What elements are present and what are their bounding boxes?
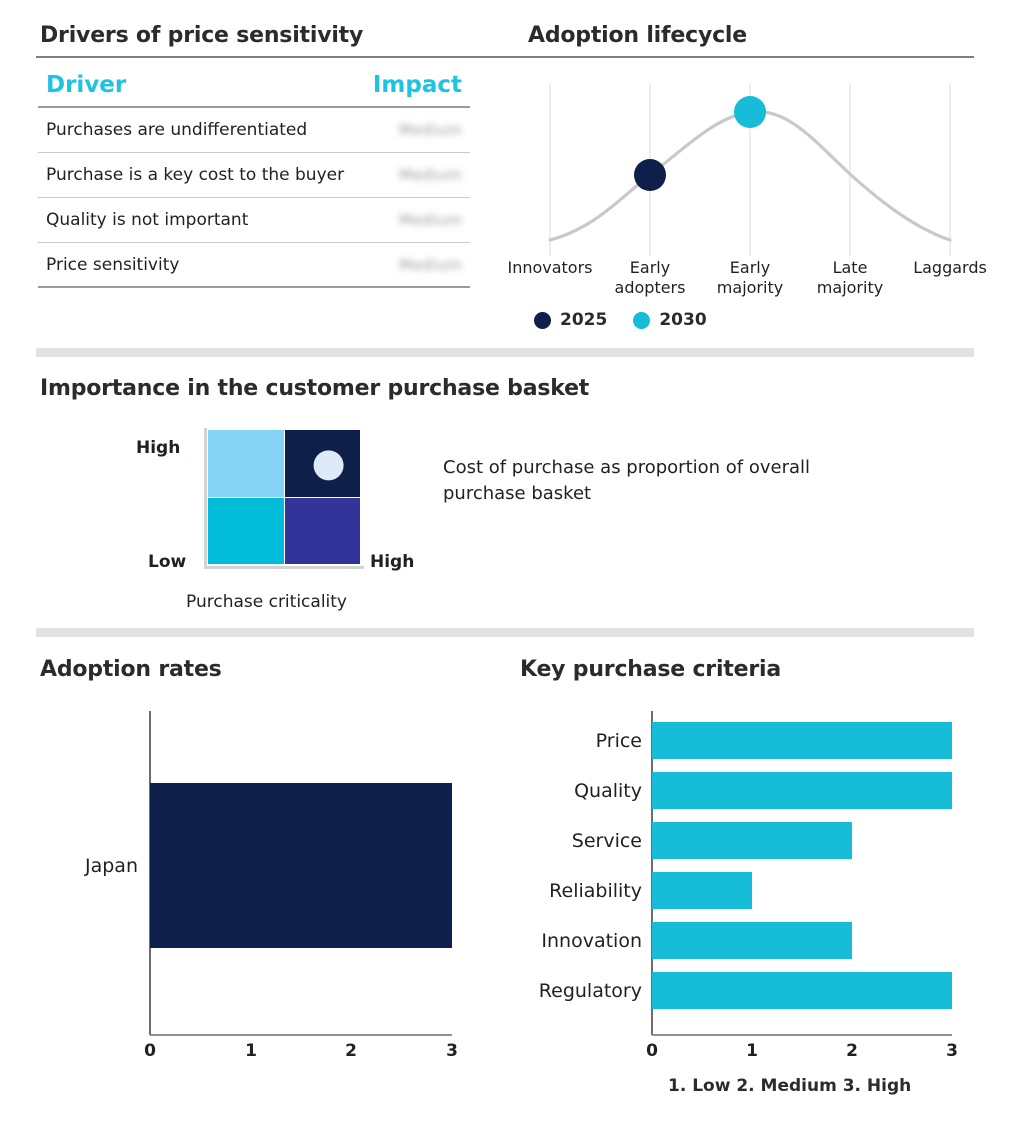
category-label-early-adopters: Earlyadopters <box>600 258 700 298</box>
matrix-x-high-label: High <box>370 552 414 572</box>
legend-item-2025: 2025 <box>534 310 607 330</box>
category-label-reliability: Reliability <box>500 880 642 902</box>
bar-price <box>652 722 952 759</box>
driver-name: Purchases are undifferentiated <box>46 120 307 140</box>
section-divider-band <box>36 348 974 357</box>
lifecycle-legend: 2025 2030 <box>534 310 707 330</box>
category-label-japan: Japan <box>30 855 138 877</box>
quadrant-top-left <box>208 430 284 497</box>
bar-reliability <box>652 872 752 909</box>
category-label-early-majority: Earlymajority <box>700 258 800 298</box>
bar-japan <box>150 783 452 948</box>
column-header-impact: Impact <box>373 72 462 98</box>
category-label-service: Service <box>500 830 642 852</box>
column-header-driver: Driver <box>46 72 126 98</box>
x-tick-3: 3 <box>437 1041 467 1061</box>
legend-label: 2030 <box>659 310 706 330</box>
drivers-panel-title: Drivers of price sensitivity <box>40 23 363 48</box>
position-marker-icon <box>314 451 344 481</box>
bar-service <box>652 822 852 859</box>
driver-name: Purchase is a key cost to the buyer <box>46 165 344 185</box>
matrix-x-axis-label: Purchase criticality <box>186 592 347 612</box>
lifecycle-category-labels: Innovators Earlyadopters Earlymajority L… <box>500 258 1000 298</box>
category-label-laggards: Laggards <box>900 258 1000 298</box>
driver-name: Price sensitivity <box>46 255 179 275</box>
key-criteria-title: Key purchase criteria <box>520 657 781 682</box>
x-tick-1: 1 <box>737 1041 767 1061</box>
x-tick-2: 2 <box>837 1041 867 1061</box>
quadrant-bottom-left <box>208 498 284 565</box>
x-tick-0: 0 <box>135 1041 165 1061</box>
table-row: Quality is not important Medium <box>38 198 470 243</box>
category-label-innovators: Innovators <box>500 258 600 298</box>
adoption-rates-chart: Japan 0 1 2 3 <box>30 705 500 1065</box>
category-label-late-majority: Latemajority <box>800 258 900 298</box>
x-tick-1: 1 <box>236 1041 266 1061</box>
bar-regulatory <box>652 972 952 1009</box>
bar-innovation <box>652 922 852 959</box>
category-label-quality: Quality <box>500 780 642 802</box>
legend-item-2030: 2030 <box>633 310 706 330</box>
matrix-y-axis <box>204 428 207 568</box>
table-row: Purchases are undifferentiated Medium <box>38 108 470 153</box>
x-tick-3: 3 <box>937 1041 967 1061</box>
quadrant-bottom-right <box>285 498 361 565</box>
key-purchase-criteria-chart: Price Quality Service Reliability Innova… <box>500 705 1000 1065</box>
adoption-lifecycle-chart: Innovators Earlyadopters Earlymajority L… <box>500 70 1000 340</box>
table-row: Price sensitivity Medium <box>38 243 470 288</box>
matrix-caption: Cost of purchase as proportion of overal… <box>443 455 843 507</box>
bar-quality <box>652 772 952 809</box>
impact-value-redacted: Medium <box>399 166 462 184</box>
adoption-rates-title: Adoption rates <box>40 657 222 682</box>
infographic-page: Drivers of price sensitivity Adoption li… <box>0 0 1026 1124</box>
driver-name: Quality is not important <box>46 210 248 230</box>
impact-value-redacted: Medium <box>399 211 462 229</box>
section-divider-band <box>36 628 974 637</box>
category-label-regulatory: Regulatory <box>500 980 642 1002</box>
table-header-row: Driver Impact <box>38 72 470 108</box>
legend-label: 2025 <box>560 310 607 330</box>
legend-dot-icon <box>534 312 551 329</box>
legend-dot-icon <box>633 312 650 329</box>
marker-2030 <box>734 96 766 128</box>
lifecycle-plot <box>500 70 1000 270</box>
table-row: Purchase is a key cost to the buyer Medi… <box>38 153 470 198</box>
category-label-price: Price <box>500 730 642 752</box>
matrix-quadrants <box>208 430 360 564</box>
quadrant-top-right <box>285 430 361 497</box>
matrix-x-axis <box>204 566 364 569</box>
header-divider <box>36 56 974 58</box>
category-label-innovation: Innovation <box>500 930 642 952</box>
matrix-y-low-label: Low <box>148 552 186 572</box>
x-tick-2: 2 <box>336 1041 366 1061</box>
impact-value-redacted: Medium <box>399 256 462 274</box>
lifecycle-panel-title: Adoption lifecycle <box>528 23 747 48</box>
x-tick-0: 0 <box>637 1041 667 1061</box>
marker-2025 <box>634 159 666 191</box>
matrix-y-high-label: High <box>136 438 180 458</box>
impact-value-redacted: Medium <box>399 121 462 139</box>
adoption-rates-plot <box>30 705 500 1065</box>
criteria-footnote: 1. Low 2. Medium 3. High <box>668 1076 911 1096</box>
drivers-table: Driver Impact Purchases are undifferenti… <box>38 72 470 288</box>
matrix-panel-title: Importance in the customer purchase bask… <box>40 376 589 401</box>
